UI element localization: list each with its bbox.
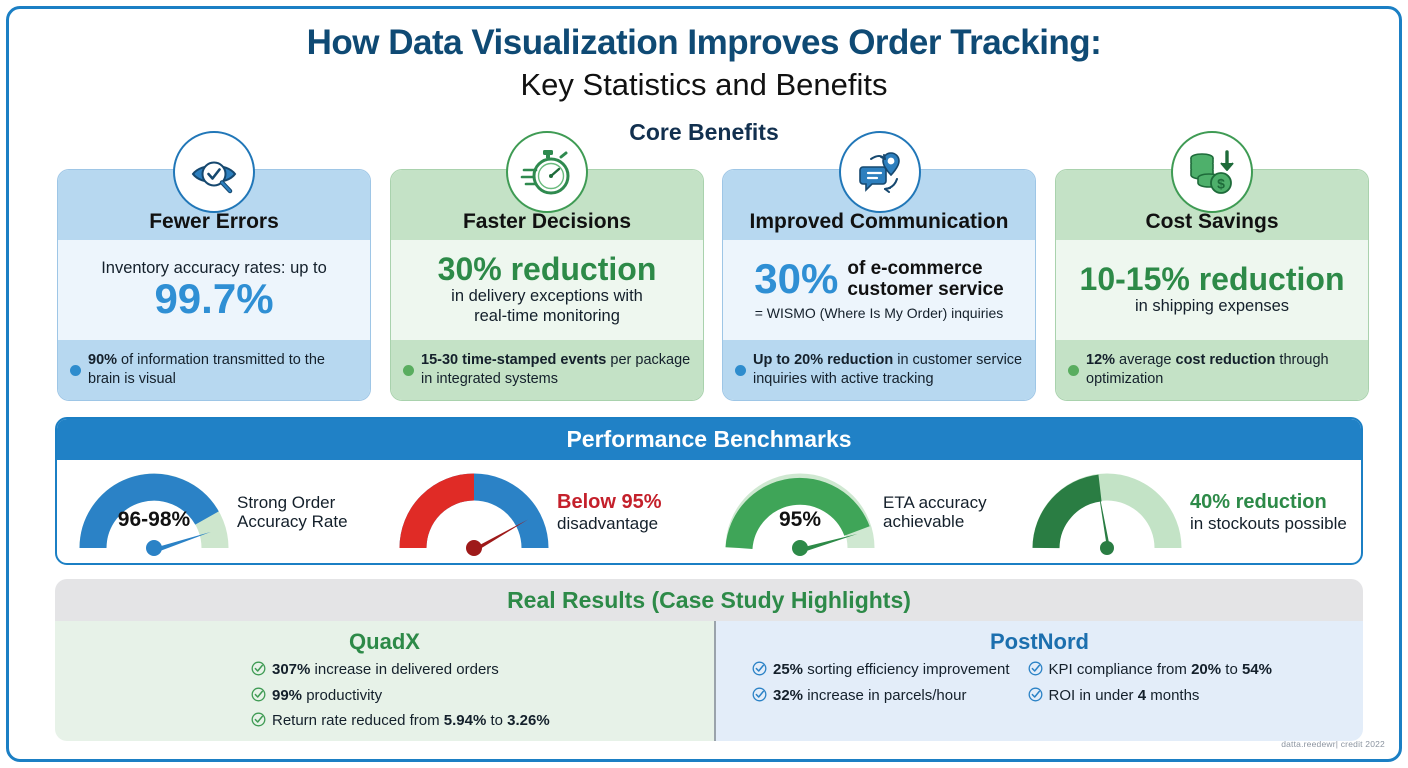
item-pre: ROI in under	[1049, 687, 1138, 704]
gauge-caption-line-1: 40% reduction	[1190, 491, 1347, 514]
gauge-stockouts: 40% reduction in stockouts possible	[1032, 462, 1347, 562]
card-title: Fewer Errors	[149, 210, 279, 234]
gauge-caption: Strong Order Accuracy Rate	[237, 493, 348, 532]
caption-line-1: of e-commerce	[847, 258, 982, 279]
card-footer: Up to 20% reduction in customer service …	[723, 340, 1035, 400]
results-body: QuadX 307% increase in delivered orders …	[55, 621, 1363, 741]
coins-down-arrow-dollar-icon: $	[1171, 131, 1253, 213]
list-item: 32% increase in parcels/hour	[752, 686, 1010, 708]
list-item-text: 25% sorting efficiency improvement	[773, 660, 1010, 680]
benchmarks-body: 96-98% Strong Order Accuracy Rate	[57, 460, 1361, 563]
check-circle-icon	[251, 687, 266, 708]
gauge-order-accuracy: 96-98% Strong Order Accuracy Rate	[79, 462, 348, 562]
gauge-graphic: 95%	[725, 462, 875, 562]
item-rest: increase in delivered orders	[310, 661, 498, 678]
caption-line-2: customer service	[847, 279, 1003, 300]
item-bold: 307%	[272, 661, 310, 678]
list-item: Return rate reduced from 5.94% to 3.26%	[251, 711, 714, 733]
check-circle-icon	[1028, 687, 1043, 708]
item-bold: 20%	[1191, 661, 1221, 678]
card-sub-line-1: in delivery exceptions with	[451, 287, 643, 307]
gauge-caption-line-1: ETA accuracy	[883, 493, 987, 512]
gauge-caption-line-1: Below 95%	[557, 491, 661, 514]
gauge-caption-line-2: in stockouts possible	[1190, 514, 1347, 533]
item-rest: productivity	[302, 687, 382, 704]
bullet-bold: Up to 20% reduction	[753, 352, 893, 368]
list-item-text: ROI in under 4 months	[1049, 686, 1200, 706]
list-item: 99% productivity	[251, 686, 714, 708]
gauge-caption-line-2: achievable	[883, 512, 987, 531]
card-bullet-text: 12% average cost reduction through optim…	[1086, 351, 1358, 388]
results-column-postnord: PostNord 25% sorting efficiency improvem…	[714, 621, 1363, 741]
bullet-mid: average	[1115, 352, 1175, 368]
card-value-row: 30% of e-commerce customer service	[754, 258, 1003, 301]
bullet-bold: 15-30 time-stamped events	[421, 352, 606, 368]
infographic-frame: How Data Visualization Improves Order Tr…	[6, 6, 1402, 762]
list-item-text: 99% productivity	[272, 686, 382, 706]
check-circle-icon	[251, 712, 266, 733]
gauge-caption-line-2: Accuracy Rate	[237, 512, 348, 531]
bullet-bold: 90%	[88, 352, 117, 368]
results-item-list-right: KPI compliance from 20% to 54% ROI in un…	[1028, 660, 1272, 707]
gauge-value-label: 96-98%	[79, 508, 229, 532]
results-column-quadx: QuadX 307% increase in delivered orders …	[55, 621, 714, 741]
card-primary-value: 99.7%	[154, 278, 273, 321]
bullet-dot-icon	[70, 365, 81, 376]
card-bullet-text: 15-30 time-stamped events per package in…	[421, 351, 693, 388]
bullet-dot-icon	[1068, 365, 1079, 376]
card-footer: 15-30 time-stamped events per package in…	[391, 340, 703, 400]
list-item: 307% increase in delivered orders	[251, 660, 714, 682]
item-pre: Return rate reduced from	[272, 712, 444, 729]
card-primary-value: 10-15% reduction	[1080, 263, 1345, 297]
gauge-graphic: 96-98%	[79, 462, 229, 562]
card-note: = WISMO (Where Is My Order) inquiries	[755, 305, 1004, 322]
card-title: Faster Decisions	[463, 210, 631, 234]
bullet-bold-post: cost reduction	[1176, 352, 1276, 368]
gauge-below-95: Below 95% disadvantage	[399, 462, 661, 562]
card-body: 30% reduction in delivery exceptions wit…	[391, 240, 703, 340]
bullet-rest: of information transmitted to the brain …	[88, 352, 325, 387]
card-footer: 12% average cost reduction through optim…	[1056, 340, 1368, 400]
results-item-list-left: 25% sorting efficiency improvement 32% i…	[752, 660, 1010, 707]
card-bullet-text: Up to 20% reduction in customer service …	[753, 351, 1025, 388]
list-item-text: 307% increase in delivered orders	[272, 660, 499, 680]
bullet-dot-icon	[403, 365, 414, 376]
card-body: Inventory accuracy rates: up to 99.7%	[58, 240, 370, 340]
list-item: KPI compliance from 20% to 54%	[1028, 660, 1272, 682]
card-footer: 90% of information transmitted to the br…	[58, 340, 370, 400]
item-mid: to	[486, 712, 507, 729]
card-primary-value: 30% reduction	[438, 253, 657, 287]
gauge-eta-accuracy: 95% ETA accuracy achievable	[725, 462, 987, 562]
item-bold-2: 54%	[1242, 661, 1272, 678]
credit-text: datta.reedewr| credit 2022	[1281, 739, 1385, 749]
gauge-caption-line-2: disadvantage	[557, 514, 661, 533]
results-company-title: QuadX	[55, 629, 714, 655]
list-item-text: 32% increase in parcels/hour	[773, 686, 966, 706]
card-title: Improved Communication	[749, 210, 1008, 234]
card-sub-line-1: in shipping expenses	[1135, 297, 1289, 317]
check-circle-icon	[752, 687, 767, 708]
results-heading: Real Results (Case Study Highlights)	[55, 579, 1363, 621]
gauge-caption-line-1: Strong Order	[237, 493, 348, 512]
item-bold: 4	[1138, 687, 1146, 704]
stopwatch-icon	[506, 131, 588, 213]
bullet-bold-pre: 12%	[1086, 352, 1115, 368]
results-company-title: PostNord	[716, 629, 1363, 655]
real-results-panel: Real Results (Case Study Highlights) Qua…	[55, 579, 1363, 741]
item-bold: 25%	[773, 661, 803, 678]
gauge-graphic	[399, 462, 549, 562]
benchmarks-heading: Performance Benchmarks	[57, 419, 1361, 460]
eye-magnifier-check-icon	[173, 131, 255, 213]
list-item: 25% sorting efficiency improvement	[752, 660, 1010, 682]
card-sub-line-2: real-time monitoring	[474, 307, 620, 327]
list-item-text: KPI compliance from 20% to 54%	[1049, 660, 1272, 680]
item-rest: sorting efficiency improvement	[803, 661, 1009, 678]
card-bullet-text: 90% of information transmitted to the br…	[88, 351, 360, 388]
bullet-dot-icon	[735, 365, 746, 376]
list-item-text: Return rate reduced from 5.94% to 3.26%	[272, 711, 550, 731]
chat-location-pin-icon	[839, 131, 921, 213]
card-title: Cost Savings	[1145, 210, 1278, 234]
gauge-graphic	[1032, 462, 1182, 562]
gauge-caption: Below 95% disadvantage	[557, 491, 661, 533]
item-bold: 99%	[272, 687, 302, 704]
card-primary-value: 30%	[754, 258, 838, 301]
check-circle-icon	[251, 661, 266, 682]
card-body: 10-15% reduction in shipping expenses	[1056, 240, 1368, 340]
check-circle-icon	[752, 661, 767, 682]
gauge-caption: 40% reduction in stockouts possible	[1190, 491, 1347, 533]
item-bold: 5.94%	[444, 712, 487, 729]
gauge-value-label: 95%	[725, 508, 875, 532]
svg-text:$: $	[1217, 176, 1225, 192]
results-item-list: 307% increase in delivered orders 99% pr…	[55, 660, 714, 733]
card-body: 30% of e-commerce customer service = WIS…	[723, 240, 1035, 340]
item-mid: months	[1146, 687, 1199, 704]
core-benefits-cards: Fewer Errors Inventory accuracy rates: u…	[9, 9, 1399, 409]
gauge-caption: ETA accuracy achievable	[883, 493, 987, 532]
card-value-caption: of e-commerce customer service	[847, 259, 1003, 301]
item-mid: to	[1221, 661, 1242, 678]
results-item-columns: 25% sorting efficiency improvement 32% i…	[716, 660, 1363, 707]
item-rest: increase in parcels/hour	[803, 687, 966, 704]
performance-benchmarks-panel: Performance Benchmarks 96-98% Strong O	[55, 417, 1363, 565]
item-bold-2: 3.26%	[507, 712, 550, 729]
item-pre: KPI compliance from	[1049, 661, 1192, 678]
list-item: ROI in under 4 months	[1028, 686, 1272, 708]
check-circle-icon	[1028, 661, 1043, 682]
item-bold: 32%	[773, 687, 803, 704]
